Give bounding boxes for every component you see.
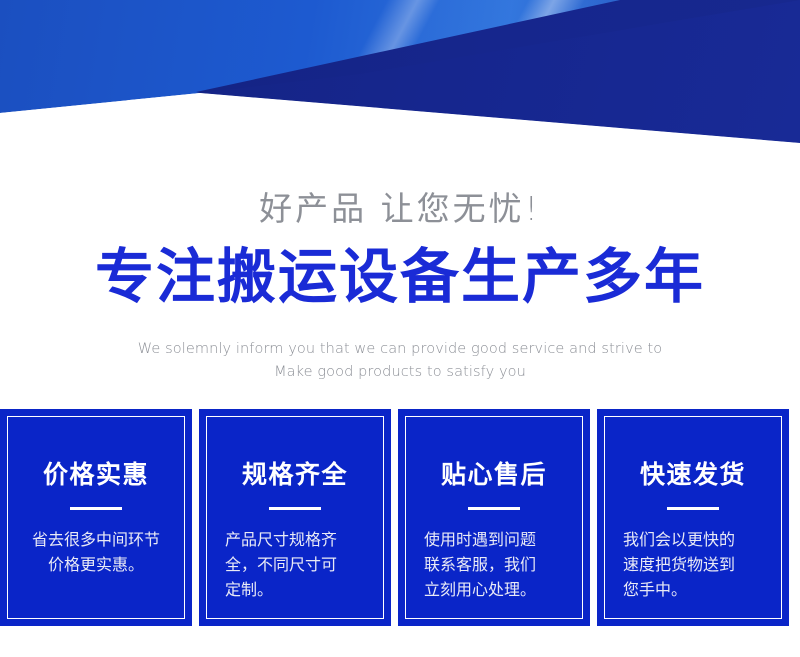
card-body-line-2: 速度把货物送到 [623, 552, 769, 577]
card-inner-border: 价格实惠 省去很多中间环节 价格更实惠。 [7, 416, 185, 619]
english-subtitle-line-2: Make good products to satisfy you [0, 361, 800, 384]
card-body-line-1: 省去很多中间环节 [20, 527, 172, 552]
card-body-line-1: 产品尺寸规格齐 [225, 527, 371, 552]
card-divider-rule [468, 507, 520, 510]
card-body-line-3: 立刻用心处理。 [424, 577, 570, 602]
card-inner-border: 贴心售后 使用时遇到问题 联系客服，我们 立刻用心处理。 [405, 416, 583, 619]
card-title: 规格齐全 [242, 455, 348, 491]
card-body: 使用时遇到问题 联系客服，我们 立刻用心处理。 [418, 527, 570, 602]
header-banner-graphic [0, 0, 800, 150]
feature-card-row: 价格实惠 省去很多中间环节 价格更实惠。 规格齐全 产品尺寸规格齐 全，不同尺寸… [0, 409, 800, 626]
card-inner-border: 规格齐全 产品尺寸规格齐 全，不同尺寸可 定制。 [206, 416, 384, 619]
card-title: 快速发货 [640, 455, 746, 491]
card-body-line-2: 价格更实惠。 [20, 552, 172, 577]
card-divider-rule [667, 507, 719, 510]
card-title: 价格实惠 [43, 455, 149, 491]
card-body: 省去很多中间环节 价格更实惠。 [20, 527, 172, 577]
feature-card-price[interactable]: 价格实惠 省去很多中间环节 价格更实惠。 [0, 409, 192, 626]
card-body: 我们会以更快的 速度把货物送到 您手中。 [617, 527, 769, 602]
card-body-line-1: 我们会以更快的 [623, 527, 769, 552]
card-body-line-2: 全，不同尺寸可 [225, 552, 371, 577]
card-body-line-3: 您手中。 [623, 577, 769, 602]
card-title: 贴心售后 [441, 455, 547, 491]
english-subtitle-line-1: We solemnly inform you that we can provi… [0, 338, 800, 361]
feature-card-after-sales[interactable]: 贴心售后 使用时遇到问题 联系客服，我们 立刻用心处理。 [398, 409, 590, 626]
promo-banner-page: 好产品 让您无忧! 专注搬运设备生产多年 We solemnly inform … [0, 0, 800, 657]
card-divider-rule [70, 507, 122, 510]
chinese-subtitle: 好产品 让您无忧! [0, 182, 800, 230]
page-title: 专注搬运设备生产多年 [0, 244, 800, 310]
card-body: 产品尺寸规格齐 全，不同尺寸可 定制。 [219, 527, 371, 602]
card-divider-rule [269, 507, 321, 510]
card-inner-border: 快速发货 我们会以更快的 速度把货物送到 您手中。 [604, 416, 782, 619]
card-body-line-3: 定制。 [225, 577, 371, 602]
card-body-line-1: 使用时遇到问题 [424, 527, 570, 552]
english-subtitle: We solemnly inform you that we can provi… [0, 338, 800, 384]
feature-card-fast-shipping[interactable]: 快速发货 我们会以更快的 速度把货物送到 您手中。 [597, 409, 789, 626]
feature-card-specifications[interactable]: 规格齐全 产品尺寸规格齐 全，不同尺寸可 定制。 [199, 409, 391, 626]
card-body-line-2: 联系客服，我们 [424, 552, 570, 577]
